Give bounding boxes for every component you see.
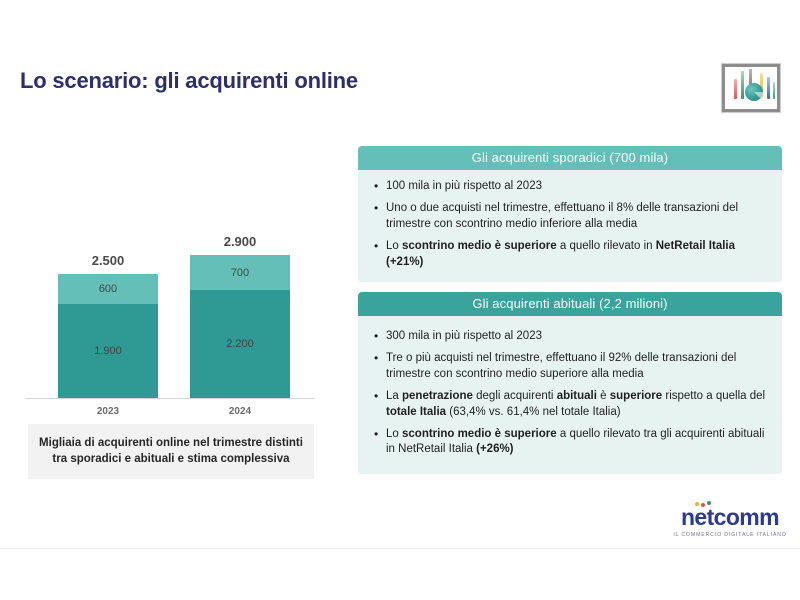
bullet-text-bold: abituali [557, 390, 597, 402]
bar-total-label-2023: 2.500 [58, 253, 158, 268]
chart-globe-logo-inner [727, 69, 775, 107]
bullet-text-bold: penetrazione [402, 390, 473, 402]
netcomm-wordmark: netcomm [681, 506, 779, 529]
bullet-text-bold: scontrino medio è superiore [402, 428, 557, 440]
panel-abituali: Gli acquirenti abituali (2,2 milioni) 30… [358, 292, 782, 474]
panel-sporadici-header: Gli acquirenti sporadici (700 mila) [358, 146, 782, 170]
netcomm-dot-red [701, 503, 705, 507]
chart-globe-logo [722, 64, 780, 112]
logo-bar-blue [767, 77, 770, 99]
bullet-text: 100 mila in più rispetto al 2023 [386, 180, 542, 192]
bullet-item: Lo scontrino medio è superiore a quello … [372, 427, 768, 458]
bullet-text: degli acquirenti [473, 390, 557, 402]
bullet-text-bold: scontrino medio è superiore [402, 240, 557, 252]
bullet-item: 300 mila in più rispetto al 2023 [372, 329, 768, 344]
netcomm-wordmark-text: netcomm [681, 504, 779, 530]
bullet-text: è [597, 390, 610, 402]
bullet-item: Tre o più acquisti nel trimestre, effett… [372, 351, 768, 382]
logo-bar-red [734, 79, 737, 99]
bullet-text: a quello rilevato in [557, 240, 656, 252]
stacked-bar-chart: 2.5006001.9002023 2.9007002.2002024 [20, 220, 340, 420]
netcomm-logo: netcomm IL COMMERCIO DIGITALE ITALIANO [672, 506, 788, 538]
bullet-item: Lo scontrino medio è superiore a quello … [372, 239, 768, 270]
bar-segment-label-sporadici-2024: 700 [231, 267, 249, 279]
logo-bar-green [741, 71, 744, 99]
netcomm-tagline: IL COMMERCIO DIGITALE ITALIANO [672, 532, 788, 538]
page-title: Lo scenario: gli acquirenti online [20, 68, 358, 94]
netcomm-dot-yellow [695, 502, 699, 506]
bar-segment-label-sporadici-2023: 600 [99, 283, 117, 295]
bar-group-2023: 2.5006001.9002023 [58, 274, 158, 398]
panel-sporadici: Gli acquirenti sporadici (700 mila) 100 … [358, 146, 782, 282]
panel-abituali-bullet-list: 300 mila in più rispetto al 2023Tre o pi… [372, 329, 768, 458]
panel-abituali-body: 300 mila in più rispetto al 2023Tre o pi… [358, 316, 782, 474]
bullet-text: La [386, 390, 402, 402]
bullet-text: 300 mila in più rispetto al 2023 [386, 330, 542, 342]
logo-bar-teal [773, 82, 775, 99]
bullet-item: Uno o due acquisti nel trimestre, effett… [372, 201, 768, 232]
bar-segment-sporadici-2024: 700 [190, 255, 290, 290]
bar-segment-sporadici-2023: 600 [58, 274, 158, 304]
bullet-text: Tre o più acquisti nel trimestre, effett… [386, 352, 736, 379]
chart-baseline-axis [25, 398, 315, 399]
bar-segment-label-abituali-2024: 2.200 [226, 338, 254, 350]
netcomm-dot-green [707, 501, 711, 505]
bullet-item: La penetrazione degli acquirenti abitual… [372, 389, 768, 420]
bullet-item: 100 mila in più rispetto al 2023 [372, 179, 768, 194]
bullet-text: Uno o due acquisti nel trimestre, effett… [386, 202, 738, 229]
bar-segment-label-abituali-2023: 1.900 [94, 345, 122, 357]
bullet-text-bold: (+26%) [476, 443, 513, 455]
bullet-text: Lo [386, 240, 402, 252]
bullet-text-bold: superiore [610, 390, 662, 402]
bar-segment-abituali-2023: 1.900 [58, 304, 158, 398]
panel-sporadici-body: 100 mila in più rispetto al 2023Uno o du… [358, 170, 782, 282]
panel-sporadici-bullet-list: 100 mila in più rispetto al 2023Uno o du… [372, 179, 768, 270]
slide-root: Lo scenario: gli acquirenti online 2.500… [0, 0, 800, 600]
panel-abituali-header: Gli acquirenti abituali (2,2 milioni) [358, 292, 782, 316]
x-axis-label-2024: 2024 [190, 406, 290, 417]
footer-divider [0, 548, 800, 549]
bullet-text: Lo [386, 428, 402, 440]
globe-pie-icon [745, 83, 763, 101]
chart-caption: Migliaia di acquirenti online nel trimes… [28, 424, 314, 479]
bar-group-2024: 2.9007002.2002024 [190, 255, 290, 398]
x-axis-label-2023: 2023 [58, 406, 158, 417]
bullet-text: (63,4% vs. 61,4% nel totale Italia) [446, 406, 621, 418]
bar-segment-abituali-2024: 2.200 [190, 290, 290, 398]
bullet-text: rispetto a quella del [662, 390, 765, 402]
bullet-text-bold: totale Italia [386, 406, 446, 418]
bar-total-label-2024: 2.900 [190, 234, 290, 249]
